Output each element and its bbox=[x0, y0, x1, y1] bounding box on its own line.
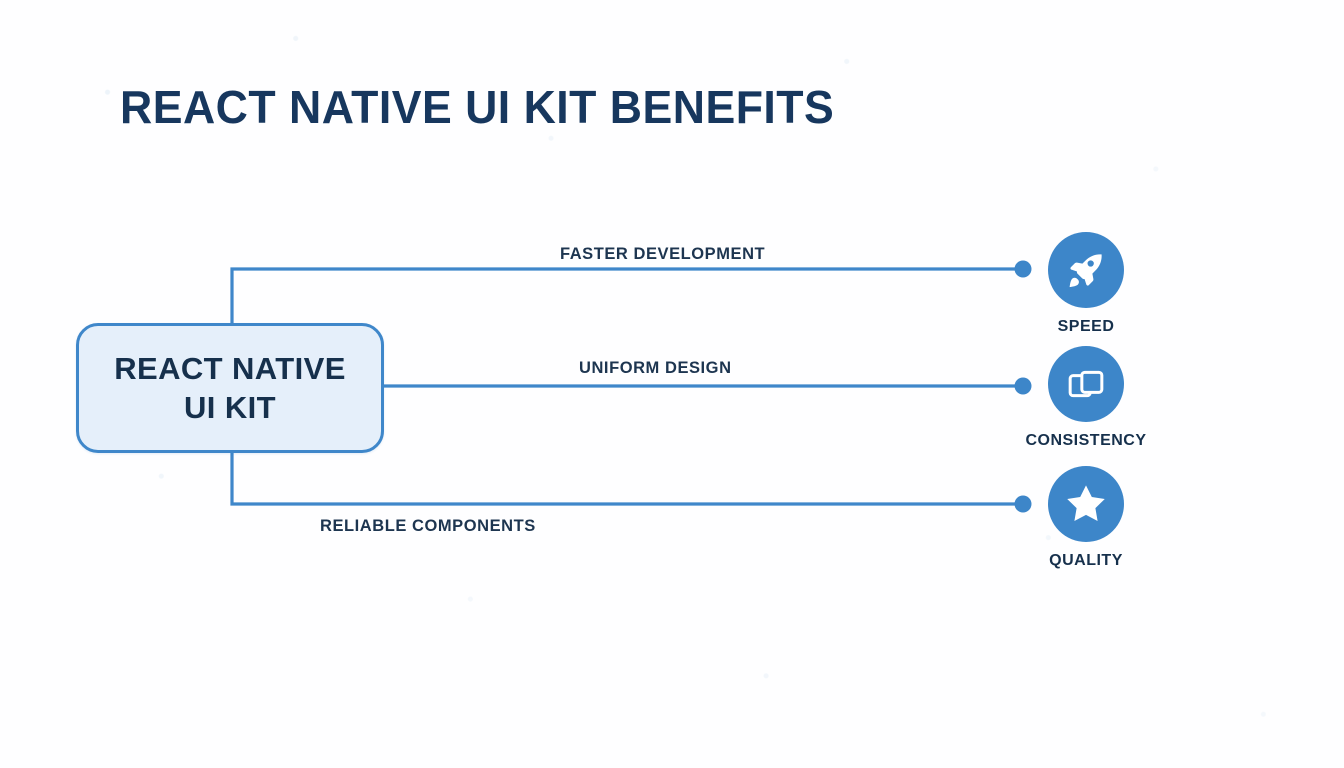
branch-label-reliable-components: RELIABLE COMPONENTS bbox=[320, 517, 536, 536]
outcome-caption-consistency: CONSISTENCY bbox=[1025, 432, 1146, 450]
connector-path-speed bbox=[232, 269, 1022, 325]
outcome-caption-speed: SPEED bbox=[1058, 318, 1115, 336]
outcome-node-consistency[interactable]: CONSISTENCY bbox=[1004, 346, 1168, 450]
center-node[interactable]: REACT NATIVE UI KIT bbox=[76, 323, 384, 453]
center-node-line-1: REACT NATIVE bbox=[114, 349, 346, 388]
overlapping-squares-icon bbox=[1066, 364, 1106, 404]
rocket-icon bbox=[1065, 249, 1107, 291]
branch-label-faster-development: FASTER DEVELOPMENT bbox=[560, 245, 765, 264]
center-node-line-2: UI KIT bbox=[184, 388, 276, 427]
icon-circle-quality bbox=[1048, 466, 1124, 542]
icon-circle-speed bbox=[1048, 232, 1124, 308]
outcome-node-speed[interactable]: SPEED bbox=[1004, 232, 1168, 336]
star-icon bbox=[1063, 481, 1109, 527]
connector-path-quality bbox=[232, 451, 1022, 504]
branch-label-uniform-design: UNIFORM DESIGN bbox=[579, 359, 732, 378]
icon-circle-consistency bbox=[1048, 346, 1124, 422]
outcome-node-quality[interactable]: QUALITY bbox=[1004, 466, 1168, 570]
outcome-caption-quality: QUALITY bbox=[1049, 552, 1123, 570]
